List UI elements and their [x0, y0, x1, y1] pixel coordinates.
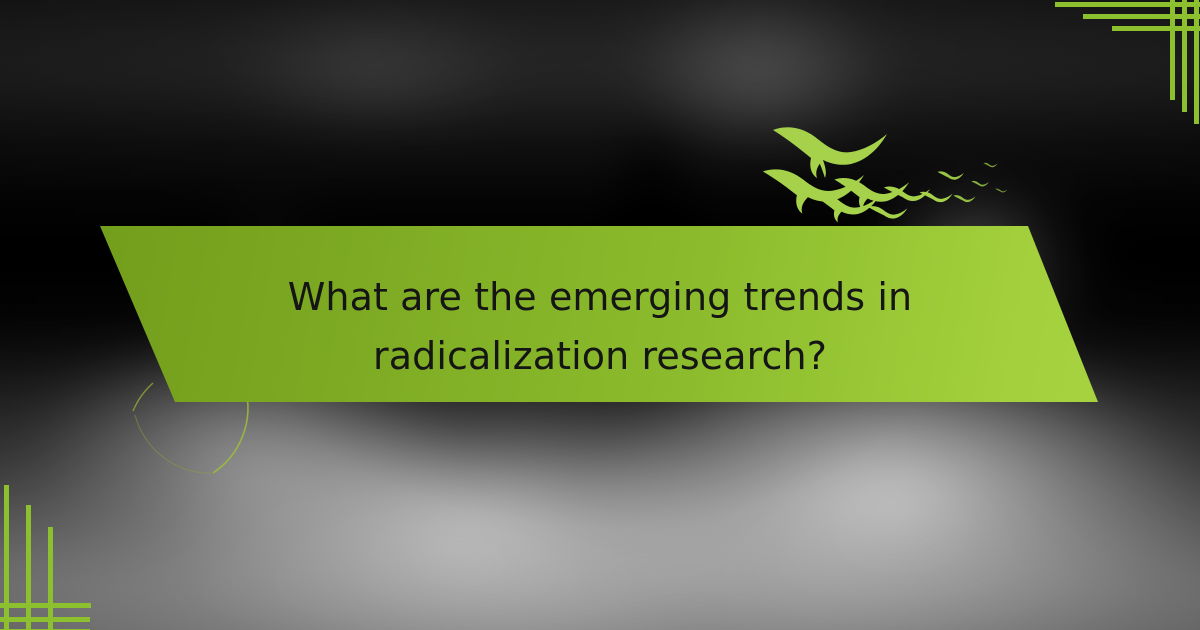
bracket-vertical-line	[1170, 0, 1175, 100]
question-card: What are the emerging trends in radicali…	[0, 0, 1200, 630]
bracket-vertical-line	[1194, 0, 1199, 124]
bracket-vertical-line	[26, 505, 31, 630]
page-title: What are the emerging trends in radicali…	[200, 268, 1000, 387]
bracket-vertical-line	[4, 485, 9, 630]
bracket-vertical-line	[1182, 0, 1187, 112]
bracket-horizontal-line	[0, 617, 90, 622]
bracket-horizontal-line	[18, 603, 91, 608]
bracket-horizontal-line	[1055, 2, 1200, 7]
bracket-vertical-line	[48, 527, 53, 630]
